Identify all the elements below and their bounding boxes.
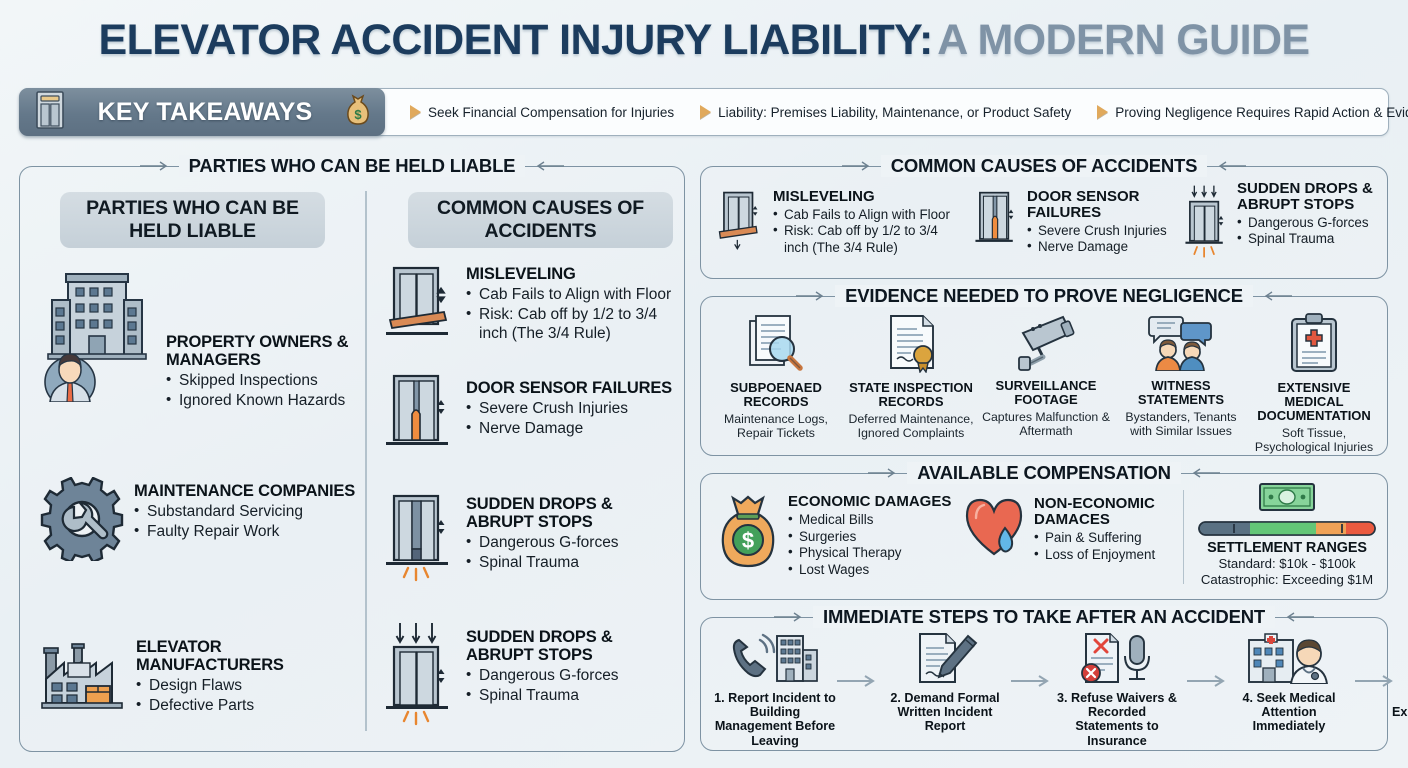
bullet: Dangerous G-forces	[1237, 215, 1386, 231]
liable-party-entry: ELEVATOR MANUFACTURERS Design Flaws Defe…	[38, 637, 358, 718]
bullet: Pain & Suffering	[1034, 530, 1178, 547]
settlement-gauge	[1198, 521, 1376, 536]
step-label: 1. Report Incident to Building Managemen…	[711, 691, 839, 748]
certificate-seal-icon	[881, 313, 941, 378]
svg-text:$: $	[742, 528, 754, 553]
evidence-panel: EVIDENCE NEEDED TO PROVE NEGLIGENCE SUBP…	[700, 296, 1388, 456]
cause-title: DOOR SENSOR FAILURES	[1027, 189, 1181, 221]
cause-bullets: Severe Crush Injuries Nerve Damage	[1027, 223, 1181, 256]
subsection-header-parties: PARTIES WHO CAN BE HELD LIABLE	[60, 192, 325, 248]
non-economic-damages-block: NON-ECONOMIC DAMACES Pain & Suffering Lo…	[963, 494, 1178, 563]
arrow-left-icon	[1284, 611, 1314, 623]
people-speech-bubbles-icon	[1148, 313, 1214, 376]
block-title: NON-ECONOMIC DAMACES	[1034, 496, 1178, 528]
bullet: Dangerous G-forces	[466, 667, 678, 686]
key-takeaways-badge: KEY TAKEAWAYS $	[19, 88, 385, 136]
arrow-left-icon	[1190, 467, 1220, 479]
cause-entry: SUDDEN DROPS & ABRUPT STOPS Dangerous G-…	[378, 617, 678, 732]
cause-entry: SUDDEN DROPS & ABRUPT STOPS Dangerous G-…	[378, 492, 678, 589]
takeaway-item: Proving Negligence Requires Rapid Action…	[1084, 105, 1408, 120]
elevator-impact-icon	[378, 492, 456, 589]
step-item: 4. Seek Medical Attention Immediately	[1225, 632, 1353, 734]
elevator-falling-arrows-icon	[1181, 181, 1229, 270]
takeaway-label: Liability: Premises Liability, Maintenan…	[718, 105, 1071, 120]
evidence-desc: Bystanders, Tenants with Similar Issues	[1114, 410, 1248, 438]
panel-header-label: COMMON CAUSES OF ACCIDENTS	[881, 155, 1208, 177]
evidence-title: WITNESS STATEMENTS	[1114, 379, 1248, 407]
documents-magnifier-icon	[744, 313, 808, 378]
evidence-title: SURVEILLANCE FOOTAGE	[979, 379, 1113, 407]
panel-header-label: AVAILABLE COMPENSATION	[907, 462, 1181, 484]
section-divider	[1183, 490, 1184, 584]
step-item: 1. Report Incident to Building Managemen…	[711, 632, 839, 748]
common-causes-panel: COMMON CAUSES OF ACCIDENTS MISLEVELING C…	[700, 166, 1388, 279]
bullet: Severe Crush Injuries	[1027, 223, 1181, 239]
entry-title: DOOR SENSOR FAILURES	[466, 380, 672, 398]
arrow-right-icon	[140, 160, 170, 172]
bullet: Loss of Enjoyment	[1034, 547, 1178, 564]
cause-item: DOOR SENSOR FAILURES Severe Crush Injuri…	[971, 189, 1181, 260]
subsection-header-causes: COMMON CAUSES OF ACCIDENTS	[408, 192, 673, 248]
office-building-with-manager-icon	[38, 262, 156, 407]
panel-header: AVAILABLE COMPENSATION	[701, 462, 1387, 484]
block-bullets: Pain & Suffering Loss of Enjoyment	[1034, 530, 1178, 564]
bullet: Defective Parts	[136, 697, 358, 716]
entry-title: ELEVATOR MANUFACTURERS	[136, 639, 358, 675]
bullet: Spinal Trauma	[466, 687, 678, 706]
arrow-right-icon	[774, 611, 804, 623]
entry-bullets: Dangerous G-forces Spinal Trauma	[466, 667, 678, 706]
entry-bullets: Severe Crush Injuries Nerve Damage	[466, 400, 672, 439]
bullet: Spinal Trauma	[1237, 231, 1386, 247]
column-divider	[365, 191, 367, 731]
arrow-right-icon	[1187, 674, 1229, 688]
evidence-item: SUBPOENAED RECORDS Maintenance Logs, Rep…	[709, 313, 843, 440]
arrow-right-icon	[1011, 674, 1053, 688]
bullet: Nerve Damage	[466, 420, 672, 439]
bullet: Faulty Repair Work	[134, 523, 355, 542]
bullet: Substandard Servicing	[134, 503, 355, 522]
elevator-falling-arrows-icon	[378, 617, 456, 732]
entry-bullets: Dangerous G-forces Spinal Trauma	[466, 534, 678, 573]
evidence-title: SUBPOENAED RECORDS	[709, 381, 843, 409]
takeaway-label: Seek Financial Compensation for Injuries	[428, 105, 674, 120]
step-item: 5. Consult an Experienced Liability Atto…	[1391, 632, 1408, 734]
arrow-right-icon	[868, 467, 898, 479]
entry-bullets: Cab Fails to Align with Floor Risk: Cab …	[466, 286, 678, 344]
cause-item: MISLEVELING Cab Fails to Align with Floo…	[715, 189, 965, 260]
panel-header: COMMON CAUSES OF ACCIDENTS	[701, 155, 1387, 177]
takeaway-item: Liability: Premises Liability, Maintenan…	[687, 105, 1084, 120]
arrow-left-icon	[1262, 290, 1292, 302]
bullet: Design Flaws	[136, 677, 358, 696]
bullet: Cab Fails to Align with Floor	[773, 207, 965, 223]
cause-item: SUDDEN DROPS & ABRUPT STOPS Dangerous G-…	[1181, 181, 1386, 270]
evidence-desc: Maintenance Logs, Repair Tickets	[709, 412, 843, 440]
evidence-title: STATE INSPECTION RECORDS	[844, 381, 978, 409]
gear-wrench-icon	[40, 477, 124, 566]
entry-title: SUDDEN DROPS & ABRUPT STOPS	[466, 629, 678, 665]
cause-bullets: Dangerous G-forces Spinal Trauma	[1237, 215, 1386, 248]
document-pen-icon	[910, 632, 980, 689]
entry-title: MISLEVELING	[466, 266, 678, 284]
cause-entry: MISLEVELING Cab Fails to Align with Floo…	[378, 262, 678, 349]
block-bullets: Medical Bills Surgeries Physical Therapy…	[788, 512, 951, 579]
cause-bullets: Cab Fails to Align with Floor Risk: Cab …	[773, 207, 965, 256]
bullet: Physical Therapy	[788, 545, 951, 562]
elevator-door-sensor-icon	[378, 372, 456, 461]
arrow-left-icon	[534, 160, 564, 172]
cause-title: MISLEVELING	[773, 189, 965, 205]
bullet: Risk: Cab off by 1/2 to 3/4 inch (The 3/…	[773, 223, 965, 256]
money-bag-icon: $	[717, 494, 779, 577]
takeaway-label: Proving Negligence Requires Rapid Action…	[1115, 105, 1408, 120]
block-title: ECONOMIC DAMAGES	[788, 494, 951, 510]
evidence-item: WITNESS STATEMENTS Bystanders, Tenants w…	[1114, 313, 1248, 438]
factory-icon	[38, 637, 126, 718]
banknote-icon	[1258, 499, 1316, 516]
liable-party-entry: PROPERTY OWNERS & MANAGERS Skipped Inspe…	[38, 262, 358, 410]
entry-bullets: Substandard Servicing Faulty Repair Work	[134, 503, 355, 542]
entry-title: MAINTENANCE COMPANIES	[134, 483, 355, 501]
evidence-title: EXTENSIVE MEDICAL DOCUMENTATION	[1247, 381, 1381, 423]
arrow-right-icon	[700, 105, 711, 119]
panel-header: IMMEDIATE STEPS TO TAKE AFTER AN ACCIDEN…	[701, 606, 1387, 628]
entry-title: PROPERTY OWNERS & MANAGERS	[166, 334, 358, 370]
evidence-desc: Soft Tissue, Psychological Injuries	[1247, 426, 1381, 454]
bullet: Surgeries	[788, 529, 951, 546]
step-item: 2. Demand Formal Written Incident Report	[881, 632, 1009, 734]
bullet: Nerve Damage	[1027, 239, 1181, 255]
step-label: 4. Seek Medical Attention Immediately	[1225, 691, 1353, 734]
parties-liable-panel: PARTIES WHO CAN BE HELD LIABLE PARTIES W…	[19, 166, 685, 752]
heart-teardrop-icon	[963, 494, 1025, 563]
bullet: Severe Crush Injuries	[466, 400, 672, 419]
arrow-right-icon	[410, 105, 421, 119]
security-camera-icon	[1013, 313, 1079, 376]
settlement-title: SETTLEMENT RANGES	[1193, 540, 1381, 556]
cause-title: SUDDEN DROPS & ABRUPT STOPS	[1237, 181, 1386, 213]
evidence-desc: Captures Malfunction & Aftermath	[979, 410, 1113, 438]
entry-title: SUDDEN DROPS & ABRUPT STOPS	[466, 496, 678, 532]
bullet: Lost Wages	[788, 562, 951, 579]
arrow-right-icon	[1097, 105, 1108, 119]
elevator-misleveled-icon	[715, 189, 765, 260]
key-takeaways-bar: KEY TAKEAWAYS $ Seek Financial Compensat…	[19, 88, 1389, 136]
money-bag-icon: $	[345, 93, 371, 132]
settlement-ranges-block: SETTLEMENT RANGES Standard: $10k - $100k…	[1193, 482, 1381, 587]
medical-clipboard-icon	[1287, 313, 1341, 378]
bullet: Spinal Trauma	[466, 554, 678, 573]
panel-header-label: EVIDENCE NEEDED TO PROVE NEGLIGENCE	[835, 285, 1253, 307]
step-label: 2. Demand Formal Written Incident Report	[881, 691, 1009, 734]
bullet: Medical Bills	[788, 512, 951, 529]
svg-text:$: $	[354, 107, 362, 122]
panel-header-label: PARTIES WHO CAN BE HELD LIABLE	[179, 155, 526, 177]
evidence-item: SURVEILLANCE FOOTAGE Captures Malfunctio…	[979, 313, 1113, 438]
key-takeaways-label: KEY TAKEAWAYS	[75, 98, 335, 127]
entry-bullets: Design Flaws Defective Parts	[136, 677, 358, 716]
evidence-item: EXTENSIVE MEDICAL DOCUMENTATION Soft Tis…	[1247, 313, 1381, 454]
elevator-icon	[35, 90, 65, 135]
panel-header: EVIDENCE NEEDED TO PROVE NEGLIGENCE	[701, 285, 1387, 307]
page-title: ELEVATOR ACCIDENT INJURY LIABILITY: A MO…	[0, 16, 1408, 65]
rejected-document-microphone-icon	[1078, 632, 1156, 689]
elevator-door-sensor-icon	[971, 189, 1019, 260]
page-title-main: ELEVATOR ACCIDENT INJURY LIABILITY:	[99, 16, 933, 64]
step-label: 5. Consult an Experienced Liability Atto…	[1391, 691, 1408, 734]
step-item: 3. Refuse Waivers & Recorded Statements …	[1053, 632, 1181, 748]
immediate-steps-panel: IMMEDIATE STEPS TO TAKE AFTER AN ACCIDEN…	[700, 617, 1388, 751]
bullet: Risk: Cab off by 1/2 to 3/4 inch (The 3/…	[466, 306, 678, 344]
elevator-misleveled-icon	[378, 262, 456, 349]
bullet: Cab Fails to Align with Floor	[466, 286, 678, 305]
bullet: Ignored Known Hazards	[166, 392, 358, 411]
bullet: Skipped Inspections	[166, 372, 358, 391]
step-label: 3. Refuse Waivers & Recorded Statements …	[1053, 691, 1181, 748]
settlement-catastrophic: Catastrophic: Exceeding $1M	[1193, 572, 1381, 588]
evidence-item: STATE INSPECTION RECORDS Deferred Mainte…	[844, 313, 978, 440]
takeaway-item: Seek Financial Compensation for Injuries	[397, 105, 687, 120]
liable-party-entry: MAINTENANCE COMPANIES Substandard Servic…	[40, 477, 360, 566]
panel-header-label: IMMEDIATE STEPS TO TAKE AFTER AN ACCIDEN…	[813, 606, 1275, 628]
cause-entry: DOOR SENSOR FAILURES Severe Crush Injuri…	[378, 372, 678, 461]
phone-building-icon	[729, 632, 821, 689]
entry-bullets: Skipped Inspections Ignored Known Hazard…	[166, 372, 358, 411]
arrow-left-icon	[1216, 160, 1246, 172]
settlement-standard: Standard: $10k - $100k	[1193, 556, 1381, 572]
evidence-desc: Deferred Maintenance, Ignored Complaints	[844, 412, 978, 440]
bullet: Dangerous G-forces	[466, 534, 678, 553]
hospital-doctor-icon	[1243, 632, 1335, 689]
panel-header: PARTIES WHO CAN BE HELD LIABLE	[20, 155, 684, 177]
economic-damages-block: $ ECONOMIC DAMAGES Medical Bills Surgeri…	[717, 494, 957, 579]
arrow-right-icon	[842, 160, 872, 172]
arrow-right-icon	[837, 674, 879, 688]
page-title-sub: A MODERN GUIDE	[937, 16, 1309, 64]
key-takeaways-list: Seek Financial Compensation for Injuries…	[385, 105, 1408, 120]
compensation-panel: AVAILABLE COMPENSATION $ ECONOMIC DAMAGE…	[700, 473, 1388, 600]
arrow-right-icon	[796, 290, 826, 302]
